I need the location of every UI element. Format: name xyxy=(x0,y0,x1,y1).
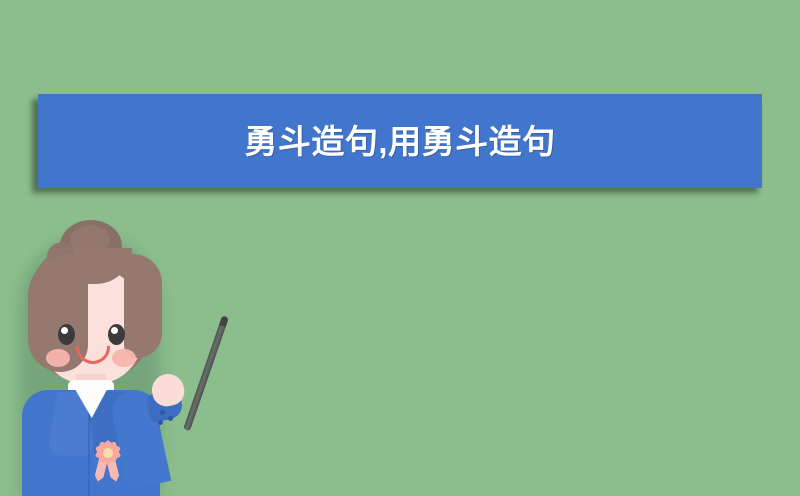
eye-left xyxy=(58,324,75,345)
pointer-tip xyxy=(219,315,229,327)
eye-highlight-right xyxy=(111,327,118,334)
eye-right xyxy=(108,324,125,345)
page-canvas: 勇斗造句,用勇斗造句 xyxy=(0,0,800,496)
title-banner: 勇斗造句,用勇斗造句 xyxy=(38,94,762,188)
hair-fringe-right xyxy=(124,254,162,358)
cheek-left xyxy=(46,349,70,367)
jacket-center-seam xyxy=(88,408,90,496)
cheek-right xyxy=(112,349,136,367)
page-title: 勇斗造句,用勇斗造句 xyxy=(244,125,555,158)
cuff-button-3 xyxy=(158,420,163,425)
cuff-button-2 xyxy=(168,416,173,421)
eye-highlight-left xyxy=(61,327,68,334)
rosette-badge-center xyxy=(103,448,113,458)
teacher-illustration xyxy=(0,214,250,496)
cuff-button-1 xyxy=(160,410,165,415)
pointer-stick-icon xyxy=(183,315,229,431)
